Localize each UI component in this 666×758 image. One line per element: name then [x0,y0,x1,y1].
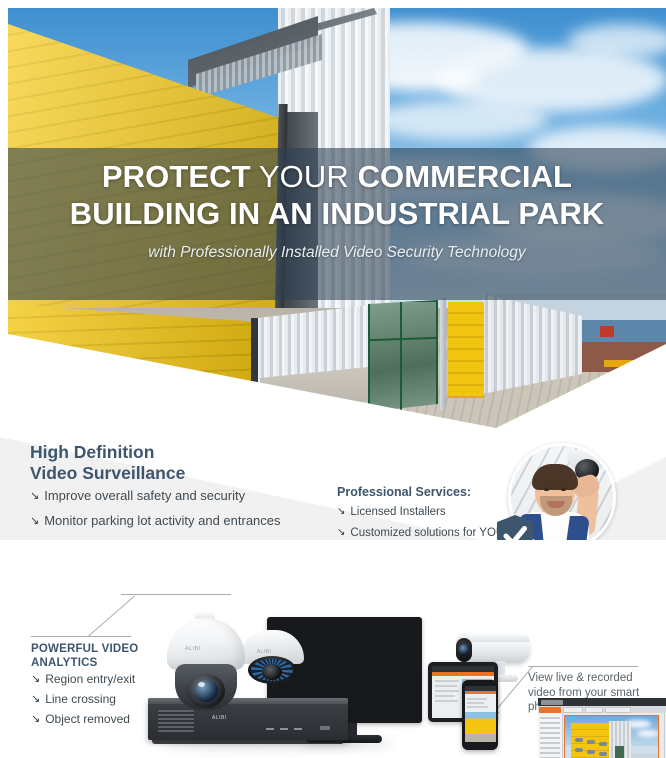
page-title: PROTECT YOUR COMMERCIAL BUILDING IN AN I… [8,158,666,232]
product-hardware-cluster: ALIBI ALIBI ALIBI [0,540,666,758]
ptz-brand-logo: ALIBI [185,646,200,652]
installer-eye-right [561,488,566,491]
vms-tab[interactable] [563,707,583,713]
cloud [368,100,548,140]
dome-camera: ALIBI [240,630,304,686]
hero-banner: PROTECT YOUR COMMERCIAL BUILDING IN AN I… [8,8,666,428]
flyer-page: PROTECT YOUR COMMERCIAL BUILDING IN AN I… [0,0,666,758]
list-item-label: Monitor parking lot activity and entranc… [44,513,280,529]
headline-line-2: BUILDING IN AN INDUSTRIAL PARK [8,195,666,232]
nvr-status-led [280,728,288,730]
services-section-title: Professional Services: [337,485,471,499]
dome-camera-lens [262,664,282,680]
ptz-lens-glint [198,682,205,687]
list-item: ↘ Monitor parking lot activity and entra… [30,513,330,529]
phone-list-row [467,706,488,708]
phone-video-thumbnail [465,712,496,742]
hd-section-title: High Definition Video Surveillance [30,442,185,484]
phone-list-row [467,698,487,700]
distant-sign [600,326,614,337]
video-distant-buildings [631,754,659,758]
video-green-door [615,746,624,758]
smartphone-screen[interactable] [465,686,496,742]
vms-logo [541,700,563,705]
hd-title-line-1: High Definition [30,442,185,463]
installer-hair [532,464,578,490]
nvr-usb-port[interactable] [320,726,330,730]
video-door-window [575,748,583,752]
ptz-camera-housing [167,618,245,670]
nvr-base-shadow [152,740,344,744]
dome-brand-logo: ALIBI [257,649,271,655]
video-door-window [587,740,595,744]
arrow-bullet-icon: ↘ [30,513,39,529]
video-door-window [587,750,595,754]
arrow-bullet-icon: ↘ [337,526,345,540]
vms-tab[interactable] [585,707,603,713]
installer-eyebrows [542,483,568,486]
vms-tab[interactable] [605,707,631,713]
installer-eye-left [544,488,549,491]
arrow-bullet-icon: ↘ [30,488,39,504]
bullet-camera-lens [459,644,469,656]
tablet-list-row [435,690,459,692]
ptz-camera: ALIBI [163,612,249,716]
door-mullion [400,302,402,410]
arrow-bullet-icon: ↘ [337,505,345,519]
list-item-label: Improve overall safety and security [44,488,245,504]
hero-text-block: PROTECT YOUR COMMERCIAL BUILDING IN AN I… [8,158,666,262]
downpipe [440,298,446,410]
video-door-window [599,752,607,756]
video-door-window [599,742,607,746]
tablet-list-row [435,680,459,682]
hd-title-line-2: Video Surveillance [30,463,185,484]
tablet-list-row [435,685,457,687]
nvr-status-led [294,728,302,730]
vms-device-tree-panel[interactable] [538,713,563,758]
headline-part-your: YOUR [251,159,358,194]
video-door-window [575,738,583,742]
monitor-screen [538,698,666,758]
vms-tab-active[interactable] [539,707,561,713]
nvr-status-led [266,728,274,730]
headline-part-protect: PROTECT [102,159,251,194]
tablet-list-row [435,700,458,702]
smartphone-device [462,680,498,750]
phone-list-row [467,702,484,704]
tablet-app-accentbar [432,672,494,676]
hero-subtitle: with Professionally Installed Video Secu… [8,244,666,262]
headline-part-commercial: COMMERCIAL [358,159,573,194]
list-item: ↘ Improve overall safety and security [30,488,330,504]
phone-app-accentbar [465,691,496,694]
vms-titlebar [538,698,666,706]
vms-live-video-pane[interactable] [564,715,659,758]
video-cloud [637,730,659,737]
list-item-label: Licensed Installers [350,505,445,519]
tablet-list-row [435,695,455,697]
yellow-roller-door-far [448,302,484,398]
